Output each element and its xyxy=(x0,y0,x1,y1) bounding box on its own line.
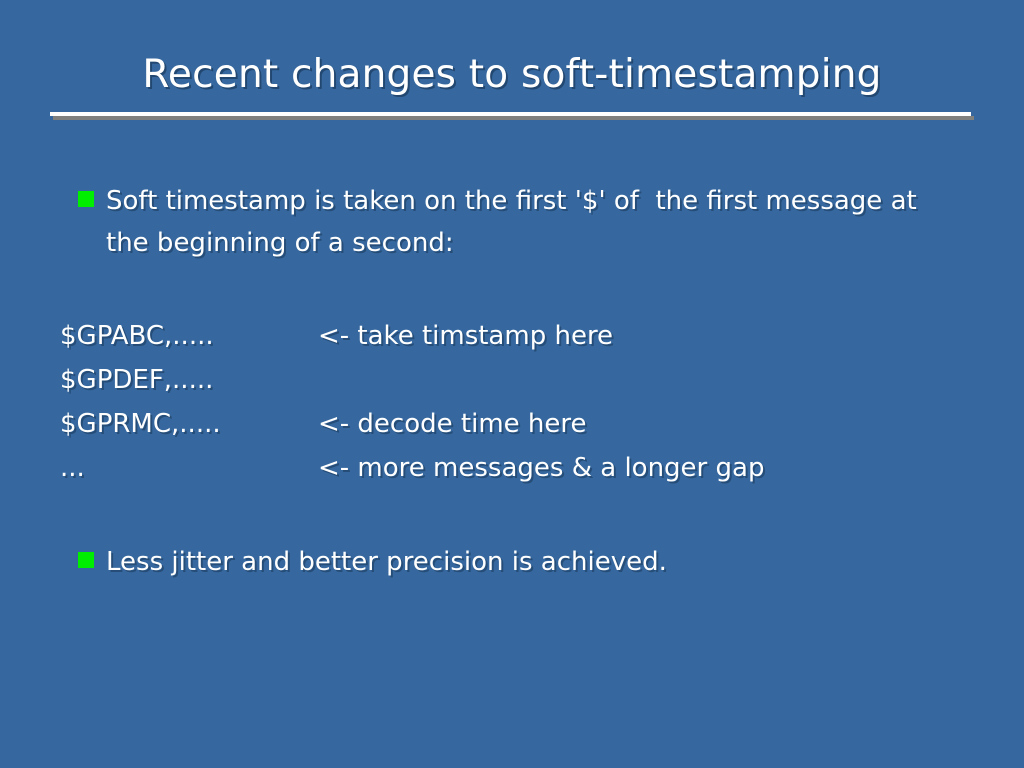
message-annotation: <- take timstamp here xyxy=(318,314,613,358)
bullet-text: Less jitter and better precision is achi… xyxy=(106,541,667,583)
green-square-bullet-icon xyxy=(78,552,94,568)
green-square-bullet-icon xyxy=(78,191,94,207)
message-sentence: $GPRMC,..... xyxy=(60,402,221,446)
slide-body: Soft timestamp is taken on the first '$'… xyxy=(0,0,1024,768)
bullet-text: Soft timestamp is taken on the first '$'… xyxy=(106,180,944,264)
message-line: $GPDEF,..... xyxy=(60,358,960,402)
message-sentence: $GPABC,..... xyxy=(60,314,214,358)
message-line: $GPABC,..... <- take timstamp here xyxy=(60,314,960,358)
message-sentence: ... xyxy=(60,446,85,490)
message-line: $GPRMC,..... <- decode time here xyxy=(60,402,960,446)
list-item: Soft timestamp is taken on the first '$'… xyxy=(78,180,958,264)
message-annotation: <- decode time here xyxy=(318,402,587,446)
message-line: ... <- more messages & a longer gap xyxy=(60,446,960,490)
slide-canvas: Recent changes to soft-timestamping Soft… xyxy=(0,0,1024,768)
message-annotation: <- more messages & a longer gap xyxy=(318,446,764,490)
message-listing-block: $GPABC,..... <- take timstamp here $GPDE… xyxy=(60,314,960,490)
list-item: Less jitter and better precision is achi… xyxy=(78,541,958,583)
message-sentence: $GPDEF,..... xyxy=(60,358,213,402)
